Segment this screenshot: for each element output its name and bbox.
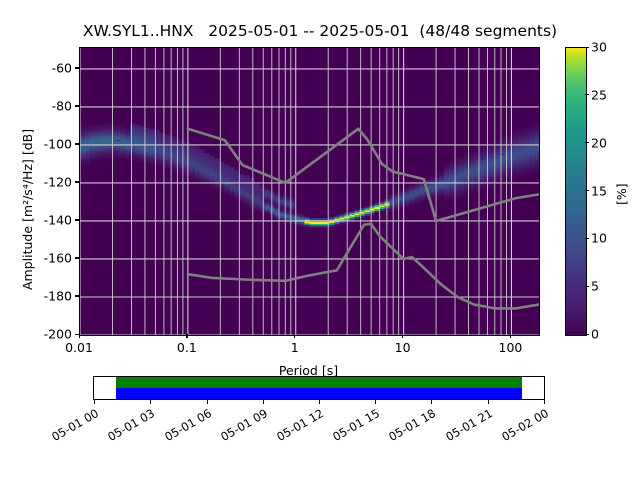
x-tick-label: 10 — [395, 340, 411, 355]
time-tick-label: 05-01 06 — [157, 406, 213, 447]
y-tick-label: -160 — [0, 250, 72, 265]
y-axis-label: Amplitude [m²/s⁴/Hz] [dB] — [20, 129, 35, 290]
x-tick-mark — [402, 334, 403, 338]
colorbar-tick-label: 0 — [591, 327, 599, 342]
colorbar-tick-mark — [585, 334, 589, 335]
y-tick-label: -120 — [0, 174, 72, 189]
colorbar-tick-label: 20 — [591, 135, 607, 150]
time-tick-mark — [544, 400, 545, 404]
time-tick-mark — [488, 400, 489, 404]
data-coverage-bar — [93, 376, 545, 400]
y-tick-mark — [75, 67, 79, 68]
time-tick-label: 05-01 09 — [213, 406, 269, 447]
x-tick-label: 0.01 — [65, 340, 93, 355]
colorbar-tick-mark — [585, 190, 589, 191]
time-tick-label: 05-01 00 — [45, 406, 101, 447]
colorbar-tick-mark — [585, 142, 589, 143]
y-tick-mark — [75, 219, 79, 220]
colorbar-tick-mark — [585, 286, 589, 287]
ppsd-histogram-canvas — [80, 48, 539, 335]
colorbar-tick-label: 25 — [591, 87, 607, 102]
colorbar — [565, 47, 587, 336]
page-title: XW.SYL1..HNX 2025-05-01 -- 2025-05-01 (4… — [0, 22, 640, 40]
x-tick-mark — [510, 334, 511, 338]
time-tick-mark — [263, 400, 264, 404]
y-tick-mark — [75, 257, 79, 258]
colorbar-tick-label: 5 — [591, 279, 599, 294]
x-tick-label: 1 — [291, 340, 299, 355]
coverage-segment-top — [116, 377, 522, 388]
colorbar-tick-mark — [585, 47, 589, 48]
y-tick-label: -180 — [0, 288, 72, 303]
colorbar-tick-mark — [585, 94, 589, 95]
ppsd-plot-area — [79, 47, 540, 336]
y-tick-label: -60 — [0, 60, 72, 75]
x-tick-mark — [79, 334, 80, 338]
colorbar-label: [%] — [614, 183, 629, 205]
x-tick-mark — [294, 334, 295, 338]
time-tick-mark — [431, 400, 432, 404]
ppsd-svg — [80, 48, 539, 335]
y-tick-mark — [75, 295, 79, 296]
time-tick-label: 05-01 21 — [438, 406, 494, 447]
y-tick-label: -80 — [0, 98, 72, 113]
time-tick-mark — [94, 400, 95, 404]
noise-model-nlnm — [188, 224, 539, 309]
time-tick-label: 05-01 03 — [101, 406, 157, 447]
x-tick-label: 0.1 — [177, 340, 197, 355]
coverage-segment — [116, 377, 522, 399]
colorbar-tick-label: 15 — [591, 183, 607, 198]
y-tick-mark — [75, 105, 79, 106]
y-tick-mark — [75, 181, 79, 182]
y-tick-label: -100 — [0, 136, 72, 151]
y-tick-label: -140 — [0, 212, 72, 227]
colorbar-tick-label: 30 — [591, 40, 607, 55]
time-tick-label: 05-02 00 — [494, 406, 550, 447]
time-tick-mark — [375, 400, 376, 404]
time-tick-label: 05-01 15 — [326, 406, 382, 447]
time-tick-mark — [319, 400, 320, 404]
time-tick-label: 05-01 12 — [270, 406, 326, 447]
x-tick-mark — [186, 334, 187, 338]
coverage-segment-bottom — [116, 388, 522, 399]
y-tick-label: -200 — [0, 327, 72, 342]
time-tick-mark — [150, 400, 151, 404]
x-tick-label: 100 — [499, 340, 523, 355]
time-tick-label: 05-01 18 — [382, 406, 438, 447]
colorbar-tick-mark — [585, 238, 589, 239]
colorbar-tick-label: 10 — [591, 231, 607, 246]
time-tick-mark — [207, 400, 208, 404]
y-tick-mark — [75, 143, 79, 144]
